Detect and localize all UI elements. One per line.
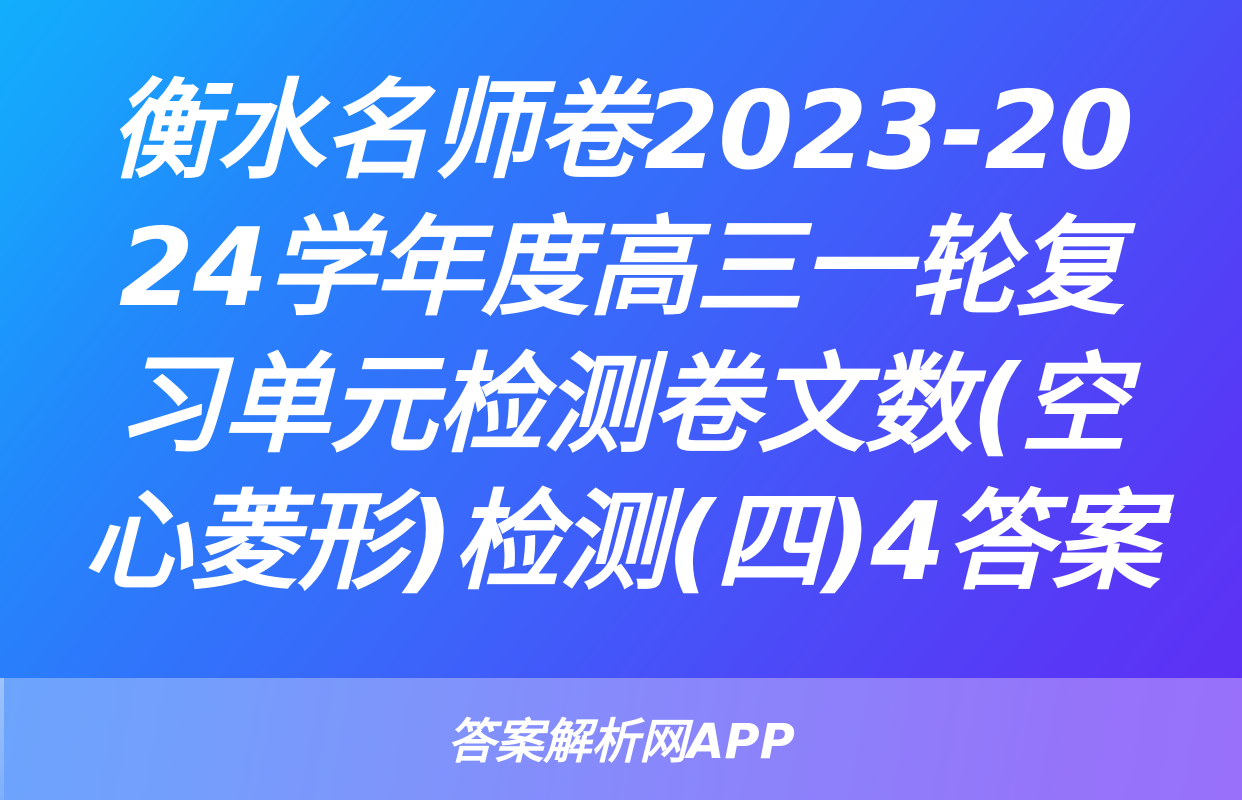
app-brand-label: 答案解析网APP	[447, 714, 795, 770]
hero-banner: 衡水名师卷2023-2024学年度高三一轮复习单元检测卷文数(空心菱形)检测(四…	[0, 0, 1242, 678]
footer-edge-highlight	[0, 678, 4, 800]
footer-banner: 答案解析网APP	[0, 678, 1242, 800]
poster-title: 衡水名师卷2023-2024学年度高三一轮复习单元检测卷文数(空心菱形)检测(四…	[82, 63, 1160, 611]
poster-container: 衡水名师卷2023-2024学年度高三一轮复习单元检测卷文数(空心菱形)检测(四…	[0, 0, 1242, 800]
